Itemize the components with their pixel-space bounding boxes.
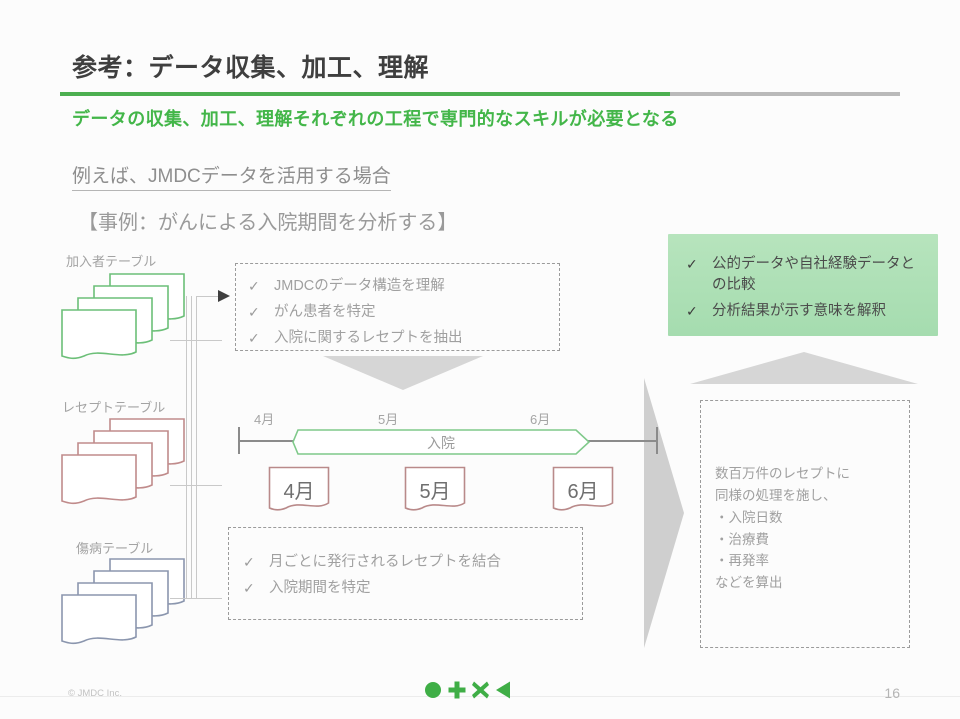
case-study-text: 【事例：がんによる入院期間を分析する】 [78, 206, 457, 235]
check-item-label: 分析結果が示す意味を解釈 [712, 301, 886, 322]
page-title: 参考：データ収集、加工、理解 [72, 48, 429, 84]
check-icon: ✓ [248, 328, 260, 348]
timeline-month-label: 5月 [378, 409, 398, 428]
check-list-top: ✓ JMDCのデータ構造を理解 ✓ がん患者を特定 ✓ 入院に関するレセプトを抽… [248, 276, 463, 349]
check-item: ✓ JMDCのデータ構造を理解 [248, 276, 463, 297]
connector-line [170, 598, 222, 599]
check-icon: ✓ [243, 578, 255, 598]
check-icon: ✓ [686, 301, 698, 321]
check-item-label: 公的データや自社経験データとの比較 [712, 254, 918, 296]
month-receipt-label: 5月 [404, 475, 466, 504]
table-label-subscriber: 加入者テーブル [66, 251, 156, 270]
table-label-disease: 傷病テーブル [76, 538, 153, 557]
check-item-label: がん患者を特定 [274, 302, 376, 323]
summary-text: 数百万件のレセプトに 同様の処理を施し、 ・入院日数 ・治療費 ・再発率 などを… [715, 463, 850, 594]
document-icon [60, 593, 138, 649]
timeline-month-label: 4月 [254, 409, 274, 428]
step-box-bottom: ✓ 月ごとに発行されるレセプトを結合 ✓ 入院期間を特定 [228, 527, 583, 620]
check-icon: ✓ [248, 276, 260, 296]
timeline-tick [656, 427, 658, 454]
step-box-top: ✓ JMDCのデータ構造を理解 ✓ がん患者を特定 ✓ 入院に関するレセプトを抽… [235, 263, 560, 351]
timeline: 4月 5月 6月 入院 [238, 405, 658, 465]
check-item-label: JMDCのデータ構造を理解 [274, 276, 445, 297]
timeline-tick [238, 427, 240, 454]
hospitalization-label: 入院 [292, 433, 590, 453]
document-icon [60, 308, 138, 364]
summary-box: 数百万件のレセプトに 同様の処理を施し、 ・入院日数 ・治療費 ・再発率 などを… [700, 400, 910, 648]
check-item: ✓ 公的データや自社経験データとの比較 [686, 254, 918, 296]
connector-line [191, 296, 192, 598]
plus-icon [448, 681, 466, 699]
check-item: ✓ 入院に関するレセプトを抽出 [248, 328, 463, 349]
check-icon: ✓ [248, 302, 260, 322]
jmdc-logo [424, 681, 511, 699]
arrow-right-icon [218, 289, 232, 303]
x-icon [472, 681, 489, 699]
check-list-bottom: ✓ 月ごとに発行されるレセプトを結合 ✓ 入院期間を特定 [243, 552, 501, 599]
check-item: ✓ 入院期間を特定 [243, 578, 501, 599]
check-icon: ✓ [243, 552, 255, 572]
connector-line [196, 296, 197, 598]
month-receipt-label: 6月 [552, 475, 614, 504]
arrow-up-icon [690, 352, 918, 384]
month-receipt-doc: 5月 [404, 466, 466, 514]
lead-underlined-text: 例えば、JMDCデータを活用する場合 [72, 161, 391, 191]
check-list-insight: ✓ 公的データや自社経験データとの比較 ✓ 分析結果が示す意味を解釈 [686, 254, 918, 322]
title-divider-accent [60, 92, 670, 96]
check-item: ✓ がん患者を特定 [248, 302, 463, 323]
check-item-label: 入院に関するレセプトを抽出 [274, 328, 463, 349]
circle-icon [424, 681, 442, 699]
slide-subtitle: データの収集、加工、理解それぞれの工程で専門的なスキルが必要となる [72, 105, 679, 131]
table-label-receipt: レセプトテーブル [62, 397, 165, 416]
month-receipt-label: 4月 [268, 475, 330, 504]
copyright-text: © JMDC Inc. [68, 688, 122, 699]
triangle-left-icon [495, 681, 511, 699]
month-receipt-doc: 4月 [268, 466, 330, 514]
document-icon [60, 453, 138, 509]
check-item: ✓ 分析結果が示す意味を解釈 [686, 301, 918, 322]
check-icon: ✓ [686, 254, 698, 274]
check-item-label: 月ごとに発行されるレセプトを結合 [269, 552, 501, 573]
page-number: 16 [884, 685, 900, 701]
check-item: ✓ 月ごとに発行されるレセプトを結合 [243, 552, 501, 573]
check-item-label: 入院期間を特定 [269, 578, 371, 599]
month-receipt-doc: 6月 [552, 466, 614, 514]
connector-line [186, 296, 187, 598]
arrow-down-icon [323, 356, 483, 390]
slide-canvas: 参考：データ収集、加工、理解 データの収集、加工、理解それぞれの工程で専門的なス… [0, 0, 960, 719]
timeline-month-label: 6月 [530, 409, 550, 428]
insight-box: ✓ 公的データや自社経験データとの比較 ✓ 分析結果が示す意味を解釈 [668, 234, 938, 336]
